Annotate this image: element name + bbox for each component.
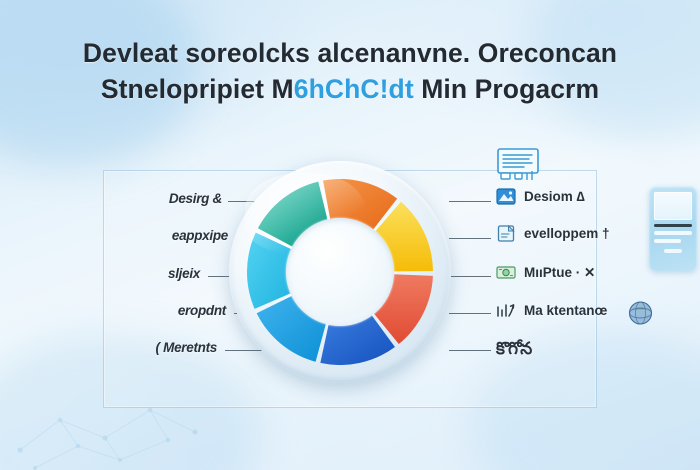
picture-icon	[496, 188, 516, 205]
leader-line-right-3	[449, 276, 491, 277]
title-line-2-suffix: Min Progacrm	[414, 74, 599, 104]
leader-line-right-5	[449, 350, 491, 351]
label-left-sisters: sljeix	[60, 266, 200, 281]
title-line-2-highlight: 6hChC!dt	[294, 74, 414, 104]
label-left-planning: eappxipe	[60, 228, 228, 243]
right-item-marketing-label: MııPtue · ✕	[524, 265, 595, 281]
label-left-support: eropdnt	[60, 303, 226, 318]
tablet-mockup	[649, 186, 697, 271]
right-item-design-label: Desiom ∆	[524, 189, 585, 204]
tablet-line-1	[654, 231, 692, 235]
document-icon	[496, 225, 516, 242]
chart-icon	[496, 302, 516, 319]
label-left-design: Desirg &	[60, 191, 222, 206]
leader-line-right-2	[449, 238, 491, 239]
donut-segment-cyan[interactable]	[247, 233, 291, 309]
title-line-2-prefix: Stnelopripiet M	[101, 74, 294, 104]
right-item-design[interactable]: Desiom ∆	[496, 188, 585, 205]
leader-line-right-4	[449, 313, 491, 314]
globe-icon	[627, 300, 654, 326]
document-lines-icon	[496, 147, 542, 181]
right-item-unknown[interactable]: కొగోన	[496, 339, 531, 363]
title-line-2: Stnelopripiet M6hChC!dt Min Progacrm	[0, 72, 700, 106]
tablet-line-2	[654, 239, 681, 243]
leader-line-right-1	[449, 201, 491, 202]
tablet-line-dark	[654, 224, 692, 227]
tablet-home-button	[664, 249, 682, 253]
right-item-maintenance-label: Ma ktentanœ	[524, 303, 607, 318]
right-item-marketing[interactable]: MııPtue · ✕	[496, 264, 595, 281]
donut-chart	[229, 161, 451, 383]
right-item-development[interactable]: evelloppem †	[496, 225, 610, 242]
right-item-unknown-label: కొగోన	[496, 339, 531, 363]
title-line-1: Devleat soreolcks alcenanvne. Oreconcan	[0, 36, 700, 70]
right-item-development-label: evelloppem †	[524, 226, 610, 241]
donut-chart-hole	[286, 218, 394, 326]
right-item-maintenance[interactable]: Ma ktentanœ	[496, 302, 607, 319]
money-icon	[496, 264, 516, 281]
label-left-measures: ( Meretnts	[50, 340, 217, 355]
page-title: Devleat soreolcks alcenanvne. Oreconcan …	[0, 36, 700, 107]
tablet-screen	[654, 192, 692, 220]
